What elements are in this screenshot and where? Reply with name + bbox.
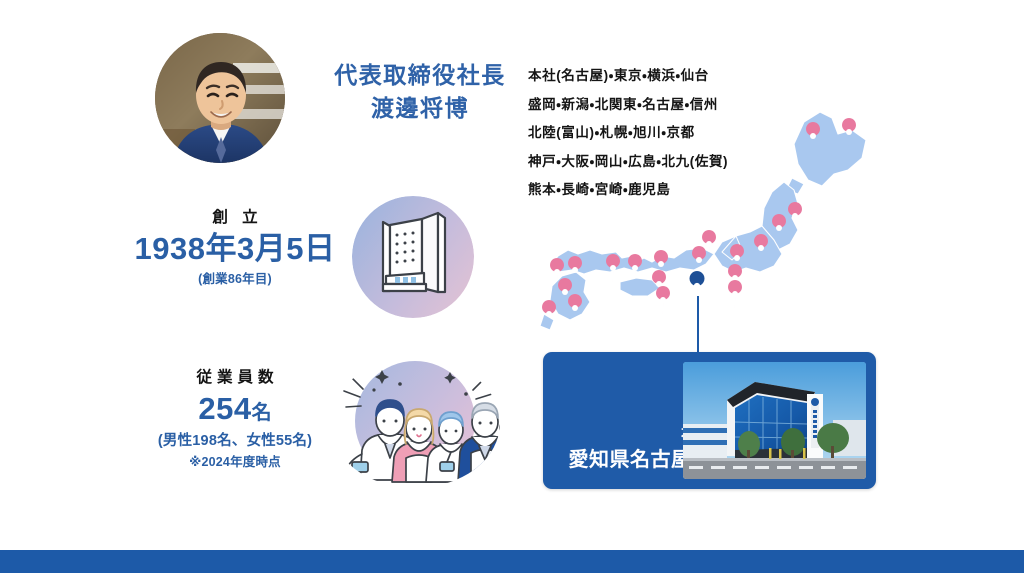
founded-note: (創業86年目) [110, 268, 360, 287]
office-line: 本社(名古屋)・東京・横浜・仙台 [528, 62, 828, 91]
employees-value: 254名 [110, 392, 360, 427]
bottom-accent-bar [0, 550, 1024, 573]
president-name: 渡邊将博 [325, 92, 515, 125]
employees-number: 254 [198, 391, 251, 426]
president-block: 代表取締役社長 渡邊将博 [155, 33, 515, 173]
employees-group-icon [330, 358, 500, 488]
president-portrait [155, 33, 285, 163]
headquarters-card: 本社 愛知県名古屋市 [543, 352, 876, 489]
president-title: 代表取締役社長 [325, 59, 515, 92]
employees-breakdown: (男性198名、女性55名) [110, 429, 360, 450]
employees-note: ※2024年度時点 [110, 451, 360, 470]
employees-unit: 名 [252, 402, 272, 424]
headquarters-photo [683, 362, 866, 479]
president-text: 代表取締役社長 渡邊将博 [325, 59, 515, 126]
founded-value: 1938年3月5日 [110, 232, 360, 267]
founded-block: 創 立 1938年3月5日 (創業86年目) [110, 205, 360, 287]
employees-block: 従業員数 254名 (男性198名、女性55名) ※2024年度時点 [110, 365, 360, 470]
founded-label: 創 立 [110, 205, 360, 227]
slide-canvas: 代表取締役社長 渡邊将博 本社(名古屋)・東京・横浜・仙台 盛岡・新潟・北関東・… [0, 0, 1024, 573]
hq-connector-line [697, 296, 699, 352]
japan-office-map [536, 100, 896, 345]
employees-label: 従業員数 [110, 365, 360, 387]
office-building-icon [352, 196, 474, 318]
